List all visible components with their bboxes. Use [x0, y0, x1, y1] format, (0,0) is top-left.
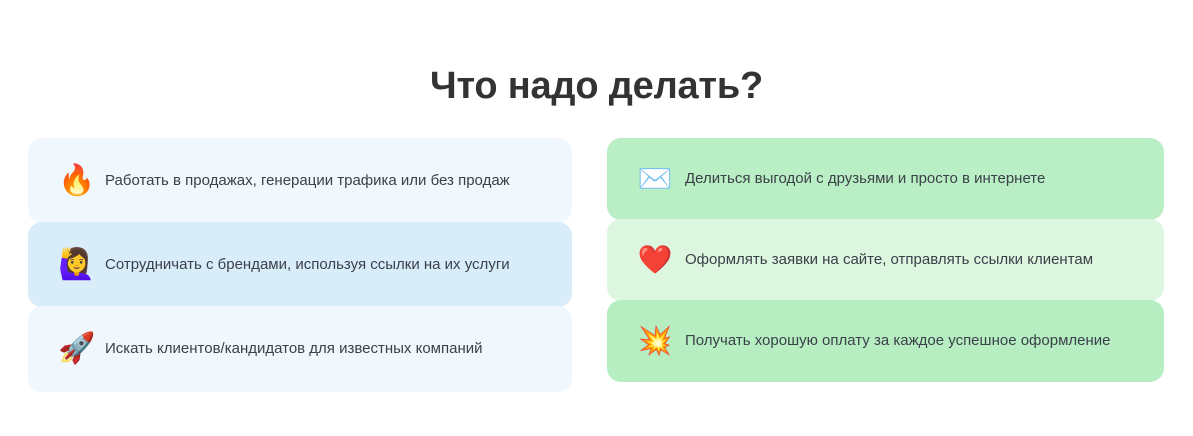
right-card-3[interactable]: 💥 Получать хорошую оплату за каждое успе… [607, 300, 1164, 382]
left-card-1-label: Работать в продажах, генерации трафика и… [105, 171, 510, 191]
left-card-3[interactable]: 🚀 Искать клиентов/кандидатов для известн… [28, 306, 572, 392]
benefits-columns: 🔥 Работать в продажах, генерации трафика… [28, 138, 1164, 392]
woman-raising-hand-icon: 🙋‍♀️ [57, 250, 97, 280]
page-root: Что надо делать? 🔥 Работать в продажах, … [0, 0, 1193, 436]
right-card-1[interactable]: ✉️ Делиться выгодой с друзьями и просто … [607, 138, 1164, 220]
left-card-1[interactable]: 🔥 Работать в продажах, генерации трафика… [28, 138, 572, 223]
left-card-2[interactable]: 🙋‍♀️ Сотрудничать с брендами, используя … [28, 222, 572, 307]
left-card-3-label: Искать клиентов/кандидатов для известных… [105, 339, 483, 359]
fire-icon: 🔥 [57, 166, 97, 196]
red-heart-icon: ❤️ [635, 246, 675, 274]
envelope-icon: ✉️ [635, 165, 675, 193]
right-card-2-label: Оформлять заявки на сайте, отправлять сс… [685, 250, 1093, 270]
collision-icon: 💥 [635, 327, 675, 355]
page-title: Что надо делать? [0, 63, 1193, 109]
right-card-3-label: Получать хорошую оплату за каждое успешн… [685, 331, 1110, 351]
right-column: ✉️ Делиться выгодой с друзьями и просто … [607, 138, 1164, 382]
left-column: 🔥 Работать в продажах, генерации трафика… [28, 138, 572, 392]
right-card-2[interactable]: ❤️ Оформлять заявки на сайте, отправлять… [607, 219, 1164, 301]
left-card-2-label: Сотрудничать с брендами, используя ссылк… [105, 255, 510, 275]
rocket-icon: 🚀 [57, 334, 97, 364]
right-card-1-label: Делиться выгодой с друзьями и просто в и… [685, 169, 1045, 189]
